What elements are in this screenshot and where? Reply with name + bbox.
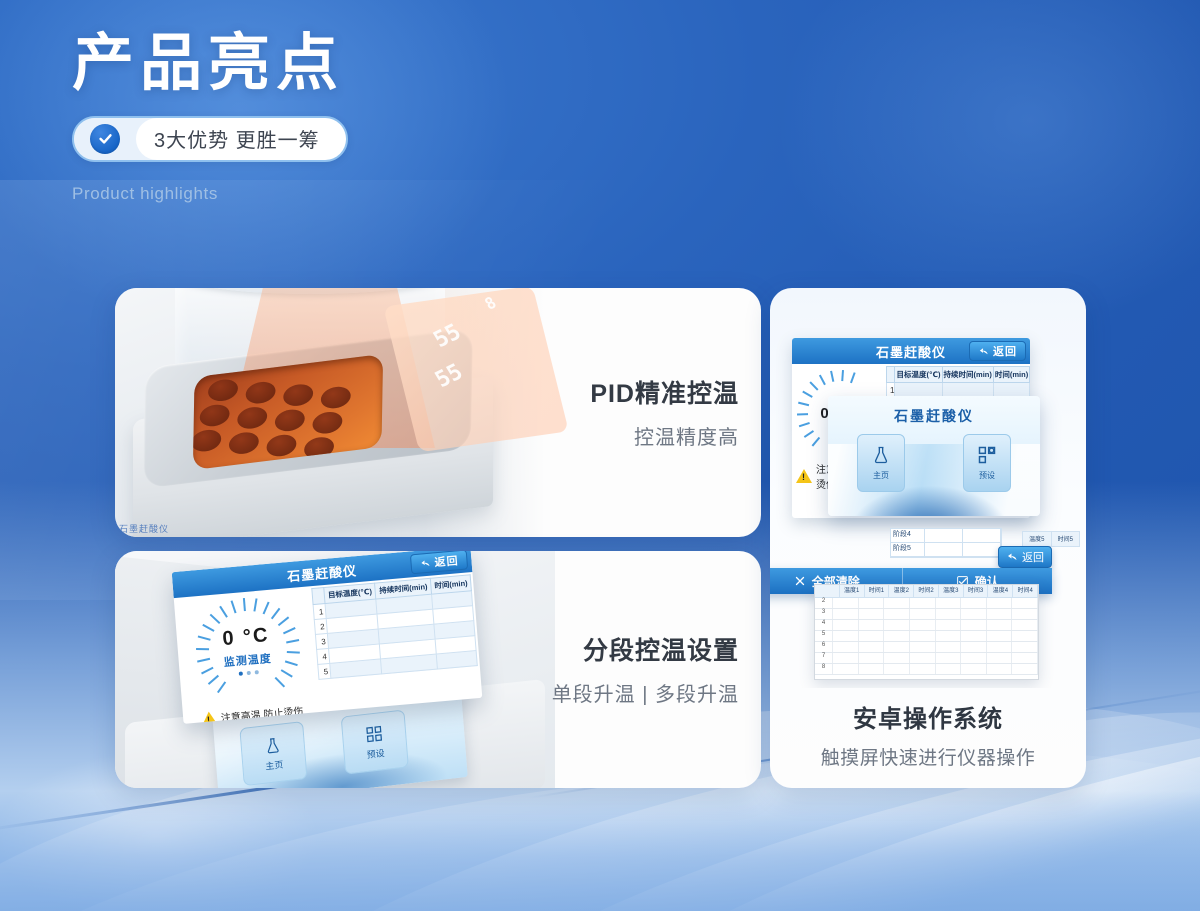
display-digit-3: 55 bbox=[431, 360, 468, 393]
card-android-title: 安卓操作系统 bbox=[770, 699, 1086, 734]
card-segment-title: 分段控温设置 bbox=[552, 632, 739, 670]
grid-col-6: 时间3 bbox=[964, 585, 989, 597]
home-button-preset[interactable]: 预设 bbox=[341, 709, 409, 774]
card-segment[interactable]: 主页 预设 石墨赶酸仪 bbox=[115, 551, 761, 788]
background-bottom-fade bbox=[0, 791, 1200, 911]
mini-corner-headers: 温度5 时间5 bbox=[1022, 531, 1080, 547]
card-android-subtitle: 触摸屏快速进行仪器操作 bbox=[770, 743, 1086, 770]
segment-table[interactable]: 目标温度(℃) 持续时间(min) 时间(min) 1 2 3 4 5 bbox=[311, 574, 478, 680]
back-arrow-icon bbox=[1006, 551, 1018, 563]
gauge-pane: 0 °C 监测温度 注意高温 防止烫伤 bbox=[174, 586, 322, 724]
grid-col-3: 温度2 bbox=[889, 585, 914, 597]
table-row: 5 bbox=[815, 631, 1038, 642]
warning-triangle-icon bbox=[796, 469, 812, 483]
header: 产品亮点 3大优势 更胜一筹 Product highlights bbox=[72, 24, 348, 204]
pid-product-photo: 8 55 55 石墨赶酸仪 bbox=[115, 288, 545, 537]
android-scene: 石墨赶酸仪 返回 bbox=[770, 288, 1086, 688]
row-index: 8 bbox=[815, 664, 833, 674]
list-item: 阶段5 bbox=[891, 543, 1001, 557]
table-row: 2 bbox=[815, 598, 1038, 609]
grid-col-2: 时间1 bbox=[865, 585, 890, 597]
android-home-dialog: 石墨赶酸仪 主页 bbox=[828, 396, 1040, 516]
table-row: 6 bbox=[815, 642, 1038, 653]
table-row: 3 bbox=[815, 609, 1038, 620]
gauge-page-dots[interactable] bbox=[239, 670, 259, 676]
card-android-text: 安卓操作系统 触摸屏快速进行仪器操作 bbox=[770, 699, 1086, 770]
dialog-button-main[interactable]: 主页 bbox=[857, 434, 905, 492]
row-index: 3 bbox=[815, 609, 833, 619]
display-digit-2: 55 bbox=[429, 320, 466, 353]
product-highlights-page: 产品亮点 3大优势 更胜一筹 Product highlights bbox=[0, 0, 1200, 911]
display-digit-1: 8 bbox=[481, 293, 500, 314]
back-button-label: 返回 bbox=[434, 552, 459, 570]
dialog-button-main-label: 主页 bbox=[873, 470, 889, 481]
floating-back-button[interactable]: 返回 bbox=[998, 546, 1052, 568]
android-col-duration: 持续时间(min) bbox=[942, 367, 993, 383]
badge-label: 3大优势 更胜一筹 bbox=[136, 118, 346, 160]
card-android[interactable]: 石墨赶酸仪 返回 bbox=[770, 288, 1086, 788]
device-app-title: 石墨赶酸仪 bbox=[286, 560, 357, 585]
gauge-label: 监测温度 bbox=[223, 649, 272, 669]
row-index: 2 bbox=[815, 598, 833, 608]
grid-icon bbox=[977, 445, 997, 465]
page-subtitle-en: Product highlights bbox=[72, 184, 348, 204]
grid-col-1: 温度1 bbox=[840, 585, 865, 597]
grid-col-7: 温度4 bbox=[988, 585, 1013, 597]
card-segment-text: 分段控温设置 单段升温 | 多段升温 bbox=[552, 632, 739, 707]
preset-row-name: 阶段5 bbox=[891, 543, 925, 556]
grid-header-row: 温度1 时间1 温度2 时间2 温度3 时间3 温度4 时间4 bbox=[815, 585, 1038, 598]
preset-grid-sheet[interactable]: 温度1 时间1 温度2 时间2 温度3 时间3 温度4 时间4 2 3 4 5 … bbox=[814, 584, 1039, 680]
row-index: 6 bbox=[815, 642, 833, 652]
android-back-label: 返回 bbox=[993, 343, 1017, 359]
back-arrow-icon bbox=[419, 557, 431, 569]
advantage-badge: 3大优势 更胜一筹 bbox=[72, 116, 348, 162]
page-title: 产品亮点 bbox=[72, 24, 348, 102]
flask-icon bbox=[263, 735, 282, 755]
android-col-index bbox=[887, 367, 895, 383]
grid-col-0 bbox=[815, 585, 840, 597]
android-back-button[interactable]: 返回 bbox=[969, 341, 1026, 361]
android-title-bar: 石墨赶酸仪 返回 bbox=[792, 338, 1030, 364]
row-index: 4 bbox=[815, 620, 833, 630]
home-button-preset-label: 预设 bbox=[366, 746, 385, 761]
table-row: 8 bbox=[815, 664, 1038, 675]
mini-header-time: 时间5 bbox=[1052, 532, 1080, 546]
badge-icon-wrap bbox=[74, 118, 136, 160]
card-pid-title: PID精准控温 bbox=[590, 375, 739, 413]
back-arrow-icon bbox=[978, 346, 989, 357]
android-app-title: 石墨赶酸仪 bbox=[876, 342, 946, 361]
home-button-main[interactable]: 主页 bbox=[239, 721, 307, 786]
check-circle-icon bbox=[90, 124, 120, 154]
mini-header-temp: 温度5 bbox=[1023, 532, 1052, 546]
dialog-button-preset-label: 预设 bbox=[979, 470, 995, 481]
grid-col-5: 温度3 bbox=[939, 585, 964, 597]
grid-icon bbox=[364, 724, 383, 744]
segment-scene: 主页 预设 石墨赶酸仪 bbox=[115, 551, 555, 788]
card-pid-text: PID精准控温 控温精度高 bbox=[590, 375, 739, 450]
android-col-time: 时间(min) bbox=[993, 367, 1029, 383]
android-table-header-row: 目标温度(℃) 持续时间(min) 时间(min) bbox=[887, 367, 1030, 383]
grid-col-4: 时间2 bbox=[914, 585, 939, 597]
home-button-main-label: 主页 bbox=[265, 757, 284, 772]
card-pid[interactable]: 8 55 55 石墨赶酸仪 PID精准控温 控温精度高 bbox=[115, 288, 761, 537]
segment-table-pane: 目标温度(℃) 持续时间(min) 时间(min) 1 2 3 4 5 bbox=[311, 572, 482, 722]
table-row: 4 bbox=[815, 620, 1038, 631]
grid-col-8: 时间4 bbox=[1013, 585, 1038, 597]
android-col-target-temp: 目标温度(℃) bbox=[895, 367, 942, 383]
table-row: 7 bbox=[815, 653, 1038, 664]
dialog-title: 石墨赶酸仪 bbox=[828, 406, 1040, 426]
back-button[interactable]: 返回 bbox=[410, 551, 468, 574]
card-segment-subtitle: 单段升温 | 多段升温 bbox=[552, 678, 739, 707]
dialog-button-preset[interactable]: 预设 bbox=[963, 434, 1011, 492]
device-body: 0 °C 监测温度 注意高温 防止烫伤 bbox=[174, 572, 483, 724]
preset-row-name: 阶段4 bbox=[891, 529, 925, 542]
photo-brand-label: 石墨赶酸仪 bbox=[119, 522, 169, 535]
row-index: 5 bbox=[815, 631, 833, 641]
close-icon bbox=[794, 575, 806, 587]
preset-mini-table[interactable]: 阶段4 阶段5 bbox=[890, 528, 1002, 558]
temperature-gauge: 0 °C 监测温度 bbox=[191, 594, 303, 707]
card-pid-subtitle: 控温精度高 bbox=[590, 421, 739, 450]
gauge-value: 0 °C bbox=[222, 624, 271, 651]
device-main-screen: 石墨赶酸仪 返回 bbox=[172, 551, 483, 724]
list-item: 阶段4 bbox=[891, 529, 1001, 543]
row-index: 7 bbox=[815, 653, 833, 663]
flask-icon bbox=[871, 445, 891, 465]
floating-back-label: 返回 bbox=[1022, 549, 1044, 565]
